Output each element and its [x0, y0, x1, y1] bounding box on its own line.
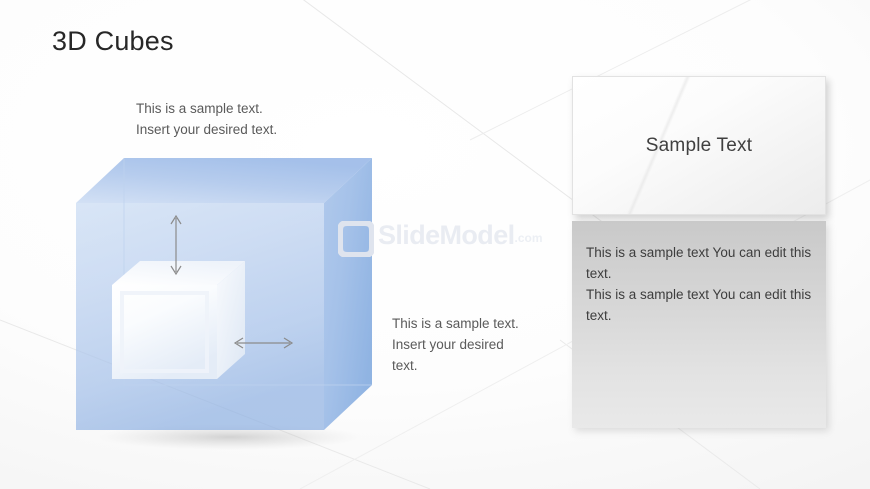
page-title: 3D Cubes	[52, 26, 174, 57]
cubes-illustration	[40, 130, 420, 470]
slide-canvas: 3D Cubes	[0, 0, 870, 489]
header-card-label: Sample Text	[646, 135, 752, 157]
inner-cube-front-face	[112, 285, 217, 379]
description-body-panel[interactable]: This is a sample text You can edit this …	[572, 221, 826, 428]
outer-cube-right-face	[324, 158, 372, 430]
description-body-text: This is a sample text You can edit this …	[586, 242, 812, 326]
cubes-svg	[40, 130, 420, 470]
callout-top-text: This is a sample text. Insert your desir…	[136, 98, 277, 140]
sample-text-header-card[interactable]: Sample Text	[572, 76, 826, 215]
description-paragraph-2: This is a sample text You can edit this …	[586, 284, 812, 326]
callout-right-text: This is a sample text. Insert your desir…	[392, 313, 522, 376]
outer-cube-top-face	[76, 158, 372, 203]
description-paragraph-1: This is a sample text You can edit this …	[586, 242, 812, 284]
